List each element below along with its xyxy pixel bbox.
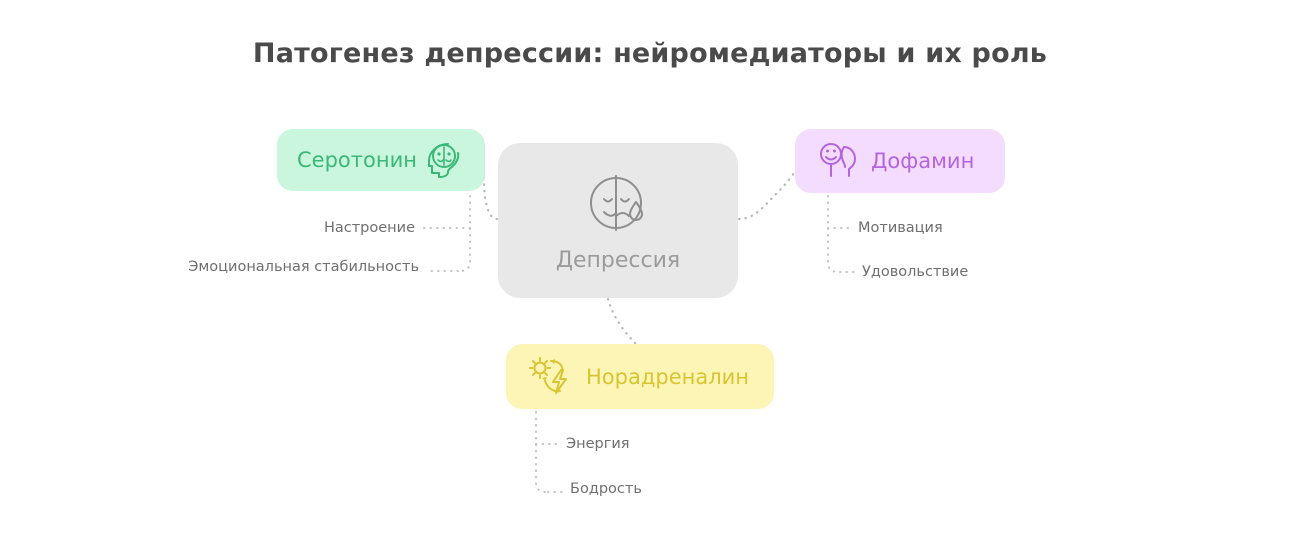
sub-label-norepinephrine-vigor: Бодрость — [570, 481, 642, 497]
sub-label-serotonin-emotional-stability: Эмоциональная стабильность — [120, 259, 419, 275]
node-dopamine[interactable]: Дофамин — [795, 129, 1005, 193]
head-with-smiley-face-icon — [815, 139, 859, 183]
link-center-norepinephrine — [608, 299, 636, 344]
sub-label-dopamine-motivation: Мотивация — [858, 220, 943, 236]
page-title: Патогенез депрессии: нейромедиаторы и их… — [0, 38, 1300, 69]
sub-label-norepinephrine-energy: Энергия — [566, 436, 630, 452]
node-norepinephrine[interactable]: Норадреналин — [506, 344, 774, 409]
sub-label-dopamine-pleasure: Удовольствие — [862, 264, 968, 280]
node-dopamine-label: Дофамин — [871, 149, 974, 173]
link-serotonin-trunk — [460, 196, 470, 271]
node-norepinephrine-label: Норадреналин — [586, 365, 749, 389]
link-norepinephrine-trunk — [536, 412, 546, 492]
sub-label-serotonin-mood: Настроение — [120, 220, 415, 236]
sun-lightning-bolt-icon — [526, 355, 572, 399]
link-center-dopamine — [739, 166, 798, 219]
node-serotonin[interactable]: Серотонин — [277, 129, 485, 191]
node-depression[interactable]: Депрессия — [498, 143, 738, 298]
diagram-canvas: Патогенез депрессии: нейромедиаторы и их… — [0, 0, 1300, 546]
split-happy-sad-face-with-tear-icon — [583, 168, 653, 238]
head-with-face-circle-icon — [421, 139, 463, 181]
node-depression-label: Депрессия — [556, 248, 680, 273]
node-serotonin-label: Серотонин — [297, 148, 417, 172]
link-dopamine-trunk — [828, 196, 838, 272]
